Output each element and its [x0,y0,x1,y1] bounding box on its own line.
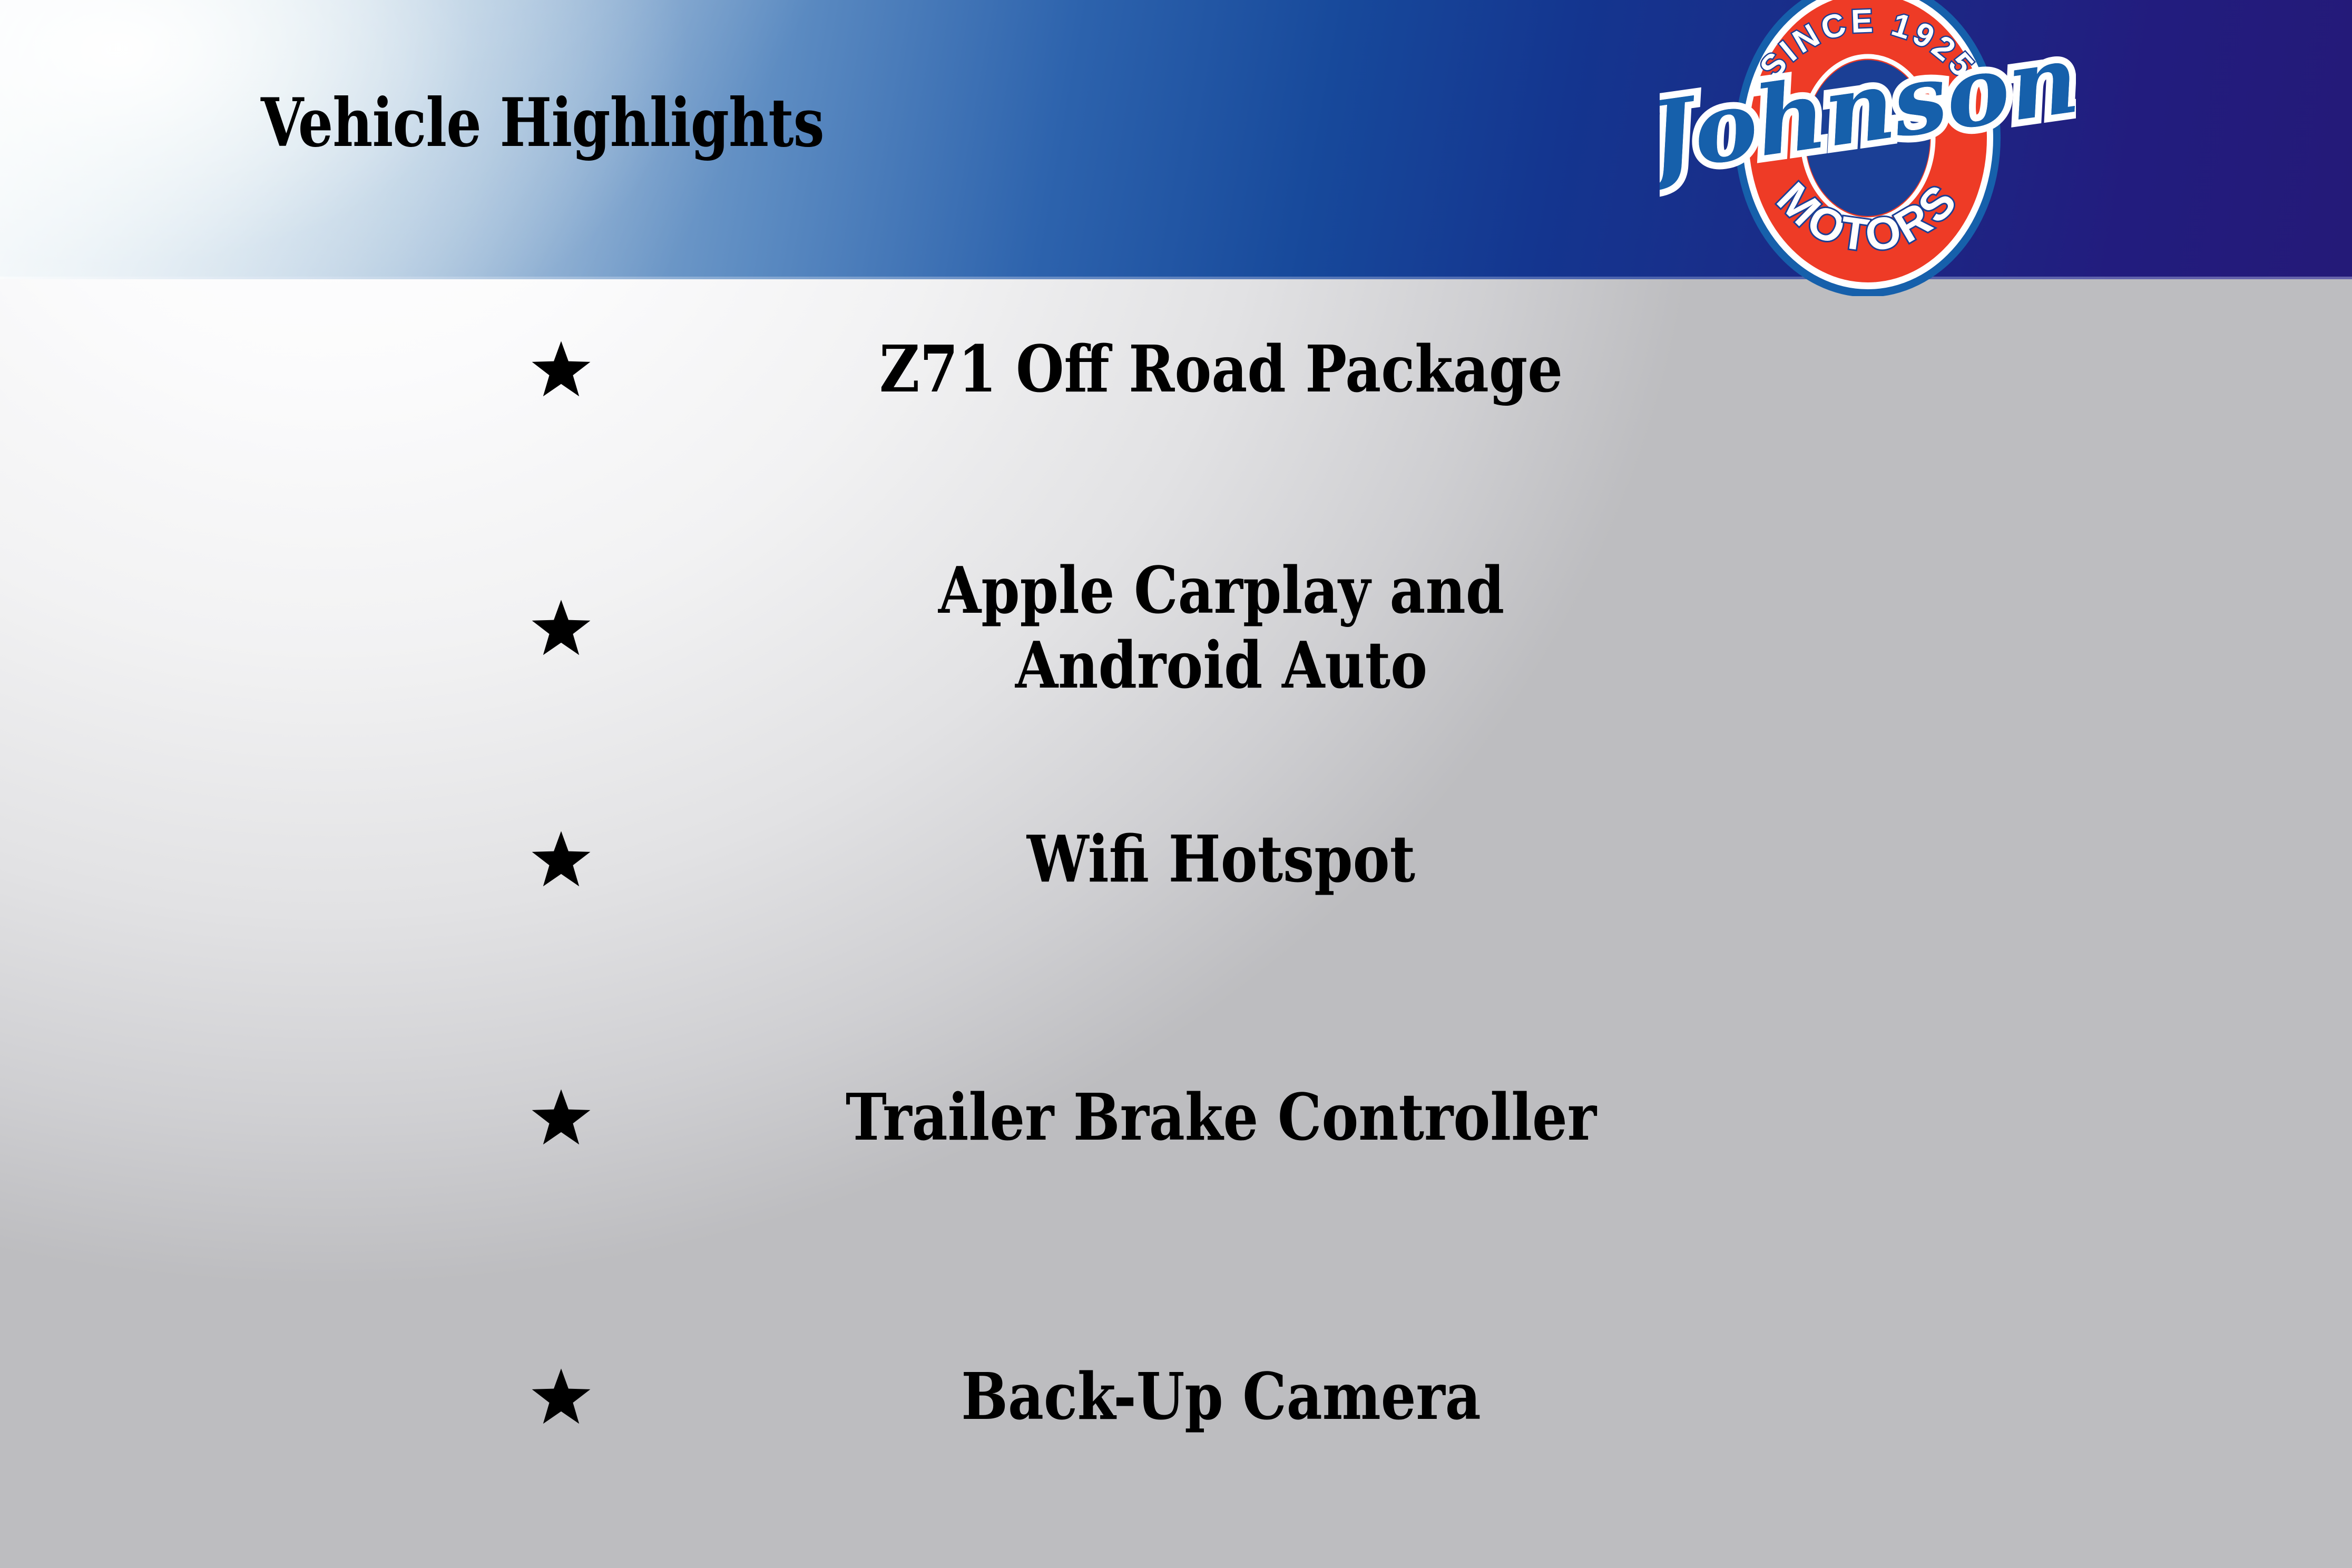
highlights-list: Z71 Off Road Package Apple Carplay and A… [0,279,2352,1568]
list-item-label: Back-Up Camera [721,1359,1720,1434]
star-icon [482,340,640,399]
list-item: Apple Carplay and Android Auto [0,553,1802,702]
list-item-label: Apple Carplay and Android Auto [795,553,1647,702]
star-icon [482,599,640,658]
list-item: Wifi Hotspot [0,822,1802,897]
list-item: Back-Up Camera [0,1359,1802,1434]
johnson-motors-logo: SINCE 1925 MOTORS Johnson Johnson [1660,0,2076,296]
list-item: Trailer Brake Controller [0,1080,1802,1155]
list-item: Z71 Off Road Package [0,332,1802,407]
star-icon [482,1367,640,1426]
list-item-label: Trailer Brake Controller [721,1080,1720,1155]
star-icon [482,830,640,889]
star-icon [482,1088,640,1147]
page-title: Vehicle Highlights [261,90,824,156]
list-item-label: Z71 Off Road Package [721,332,1720,407]
vehicle-highlights-slide: Vehicle Highlights SINCE 1925 MO [0,0,2352,1568]
list-item-label: Wifi Hotspot [721,822,1720,897]
